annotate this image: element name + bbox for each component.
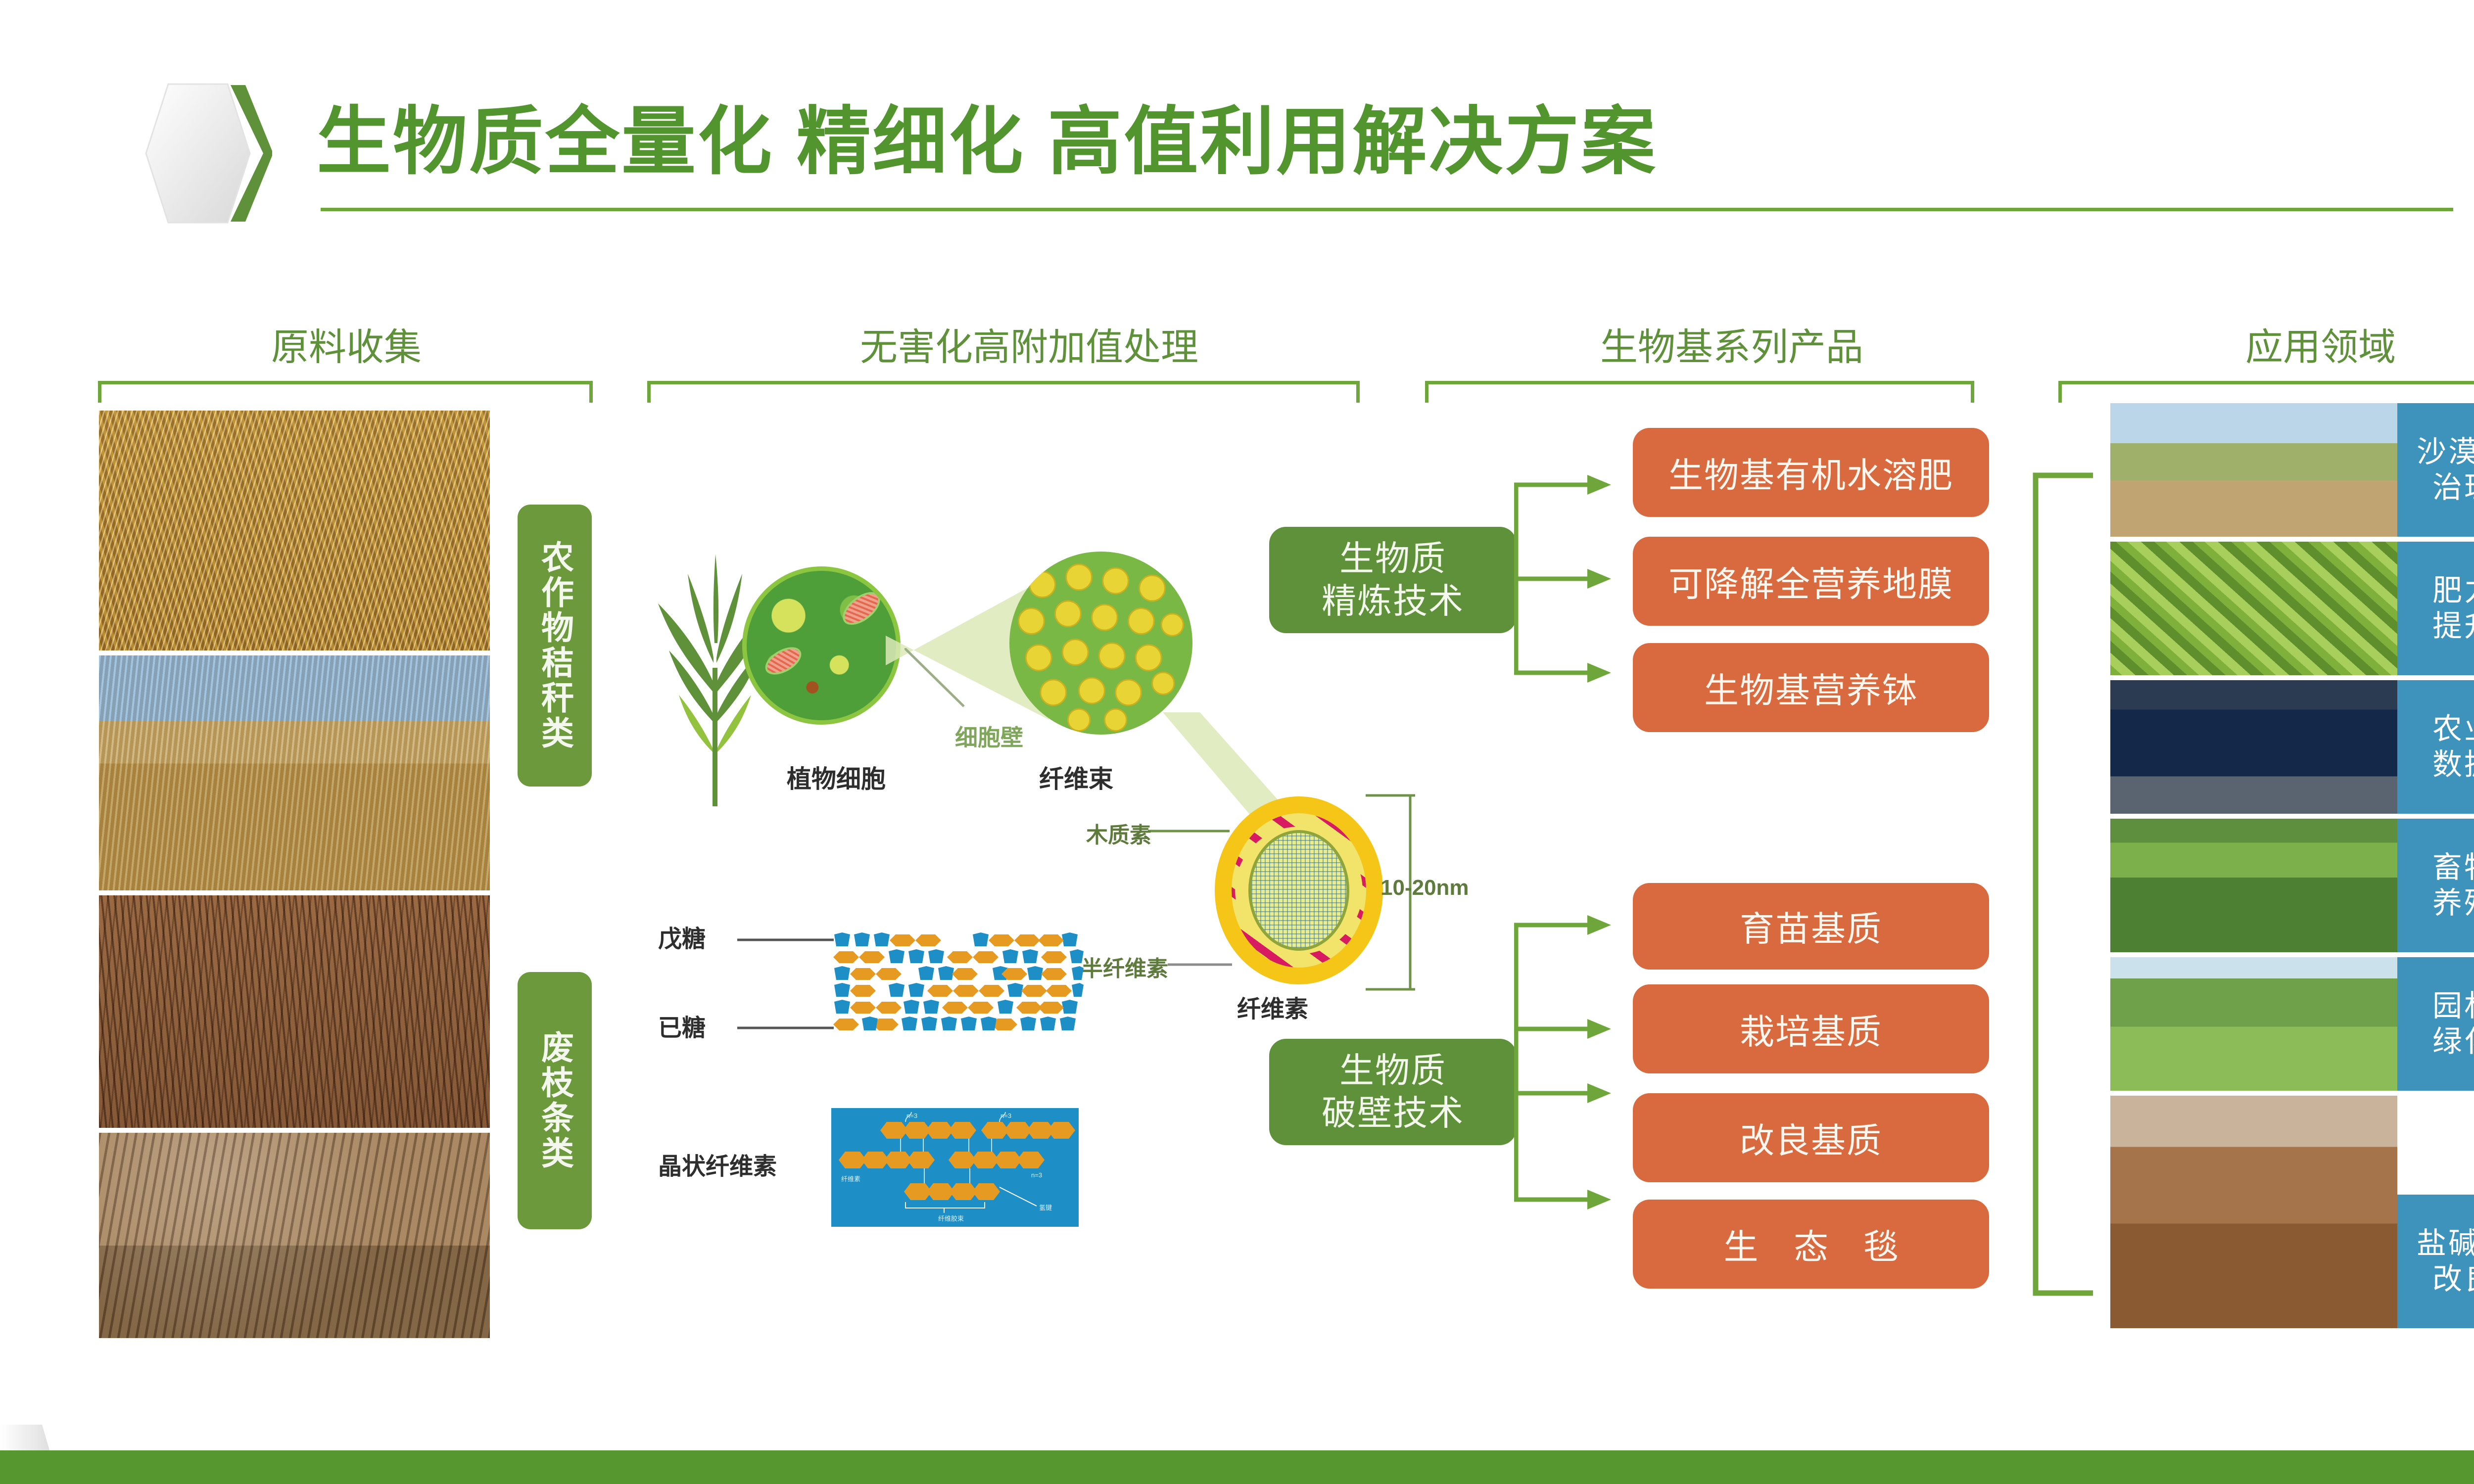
section-heading-processing: 无害化高附加值处理: [713, 317, 1346, 371]
crystalline-cellulose-panel: n=3 n=3 n=3 纤维素 纤维胶束 氢键: [831, 1108, 1079, 1227]
bracket-collection: [98, 381, 593, 403]
connector-refining-to-products: [1514, 435, 1643, 757]
label-cellulose: 纤维素: [1237, 989, 1308, 1024]
app-label-line1: 园林: [2432, 988, 2474, 1024]
photo-vineyard-pruning: [99, 1133, 490, 1338]
app-label-desert-control[interactable]: 沙漠化 治理: [2397, 403, 2474, 537]
app-photo-saline-land: [2110, 1096, 2397, 1328]
product-pill-cultivation-substrate[interactable]: 栽培基质: [1633, 984, 1989, 1073]
app-label-livestock-breeding[interactable]: 畜牧 养殖: [2397, 819, 2474, 952]
product-label: 生 态 毯: [1711, 1219, 1911, 1269]
svg-text:n=3: n=3: [1031, 1171, 1042, 1179]
tech-pill-wall-line2: 破壁技术: [1322, 1092, 1464, 1134]
hexagon-logo-icon: [134, 79, 272, 228]
photo-straw-bale-field: [99, 655, 490, 890]
tech-pill-refining-line1: 生物质: [1339, 538, 1446, 580]
svg-text:纤维胶束: 纤维胶束: [938, 1215, 964, 1222]
title-underline: [321, 208, 2453, 211]
leader-line-lignin: [1148, 821, 1237, 841]
product-pill-nutrient-pot[interactable]: 生物基营养钵: [1633, 643, 1989, 732]
section-heading-applications: 应用领域: [2068, 317, 2474, 371]
tech-pill-wall-line1: 生物质: [1339, 1050, 1446, 1092]
svg-text:氢键: 氢键: [1039, 1204, 1052, 1211]
svg-text:纤维素: 纤维素: [841, 1175, 860, 1183]
category-tab-waste-branch[interactable]: 废枝条类: [518, 972, 592, 1229]
section-heading-collection: 原料收集: [208, 317, 485, 371]
product-label: 生物基营养钵: [1704, 663, 1918, 713]
product-label: 栽培基质: [1740, 1004, 1882, 1054]
plant-cell-illustration: [742, 566, 901, 725]
tech-pill-biomass-refining[interactable]: 生物质 精炼技术: [1269, 527, 1517, 633]
product-label: 生物基有机水溶肥: [1668, 448, 1953, 498]
product-pill-seedling-substrate[interactable]: 育苗基质: [1633, 883, 1989, 970]
leader-line-cell-wall: [904, 648, 974, 712]
category-tab-waste-branch-label: 废枝条类: [536, 1030, 573, 1171]
app-label-line2: 绿化: [2432, 1024, 2474, 1060]
app-label-line1: 沙漠化: [2417, 434, 2474, 470]
app-label-line1: 畜牧: [2432, 850, 2474, 885]
app-photo-desert-control: [2110, 403, 2397, 537]
section-heading-products: 生物基系列产品: [1435, 317, 2029, 371]
app-label-line2: 数据: [2432, 747, 2474, 783]
tech-pill-refining-line2: 精炼技术: [1322, 580, 1464, 622]
app-photo-data-center: [2110, 680, 2397, 814]
product-label: 改良基质: [1740, 1113, 1882, 1163]
label-cell-wall: 细胞壁: [955, 720, 1023, 752]
label-hexose: 已糖: [658, 1008, 706, 1043]
label-pentose: 戊糖: [658, 919, 706, 954]
app-label-line1: 盐碱地: [2417, 1226, 2474, 1261]
photo-dry-branches: [99, 895, 490, 1128]
app-label-line2: 养殖: [2432, 885, 2474, 921]
label-hemicellulose: 半纤维素: [1081, 951, 1168, 982]
scale-label: 10-20nm: [1380, 876, 1469, 900]
app-label-line2: 提升: [2432, 608, 2474, 644]
app-label-agricultural-data[interactable]: 农业 数据: [2397, 680, 2474, 814]
app-photo-cabbage-field: [2110, 542, 2397, 675]
label-plant-cell: 植物细胞: [787, 759, 886, 795]
app-label-line1: 肥力: [2432, 573, 2474, 608]
label-lignin: 木质素: [1086, 817, 1151, 849]
sugar-chain-diagram: [831, 932, 1084, 1076]
app-photo-grazing-sheep: [2110, 819, 2397, 952]
app-label-line2: 治理: [2432, 470, 2474, 506]
bracket-products: [1425, 381, 1974, 403]
page-title: 生物质全量化 精细化 高值利用解决方案: [317, 99, 1657, 185]
product-label: 育苗基质: [1740, 901, 1882, 951]
fiber-bundle-illustration: [1009, 552, 1192, 735]
product-pill-biodegradable-mulch-film[interactable]: 可降解全营养地膜: [1633, 537, 1989, 626]
category-tab-crop-straw-label: 农作物秸秆类: [536, 540, 573, 751]
app-label-line2: 改良: [2432, 1261, 2474, 1297]
product-label: 可降解全营养地膜: [1668, 556, 1953, 606]
slide-root: 生物质全量化 精细化 高值利用解决方案 原料收集 无害化高附加值处理 生物基系列…: [0, 0, 2474, 1484]
svg-text:n=3: n=3: [906, 1112, 917, 1119]
product-pill-ecological-blanket[interactable]: 生 态 毯: [1633, 1200, 1989, 1289]
leader-line-hexose: [737, 1023, 841, 1033]
app-photo-park-greening: [2110, 957, 2397, 1091]
category-tab-crop-straw[interactable]: 农作物秸秆类: [518, 505, 592, 787]
app-label-line1: 农业: [2432, 711, 2474, 747]
cellulose-cross-section: [1215, 796, 1383, 984]
app-label-saline-land-improvement[interactable]: 盐碱地 改良: [2397, 1195, 2474, 1328]
leader-line-pentose: [737, 935, 841, 945]
product-pill-water-soluble-fertilizer[interactable]: 生物基有机水溶肥: [1633, 428, 1989, 517]
bracket-processing: [647, 381, 1360, 403]
connector-products-to-applications: [2029, 472, 2098, 1296]
bracket-applications: [2058, 381, 2474, 403]
product-pill-improved-substrate[interactable]: 改良基质: [1633, 1093, 1989, 1182]
label-crystalline-cellulose: 晶状纤维素: [658, 1147, 777, 1181]
label-fiber-bundle: 纤维束: [1039, 759, 1113, 795]
svg-text:n=3: n=3: [1000, 1112, 1011, 1119]
connector-wallbreaking-to-products: [1514, 885, 1643, 1301]
leader-line-hemicellulose: [1168, 955, 1242, 974]
tech-pill-biomass-wall-breaking[interactable]: 生物质 破壁技术: [1269, 1039, 1517, 1145]
footer-bar: [0, 1450, 2474, 1484]
app-label-fertility-improvement[interactable]: 肥力 提升: [2397, 542, 2474, 675]
photo-crop-straw-pile: [99, 411, 490, 650]
app-label-landscape-greening[interactable]: 园林 绿化: [2397, 957, 2474, 1091]
